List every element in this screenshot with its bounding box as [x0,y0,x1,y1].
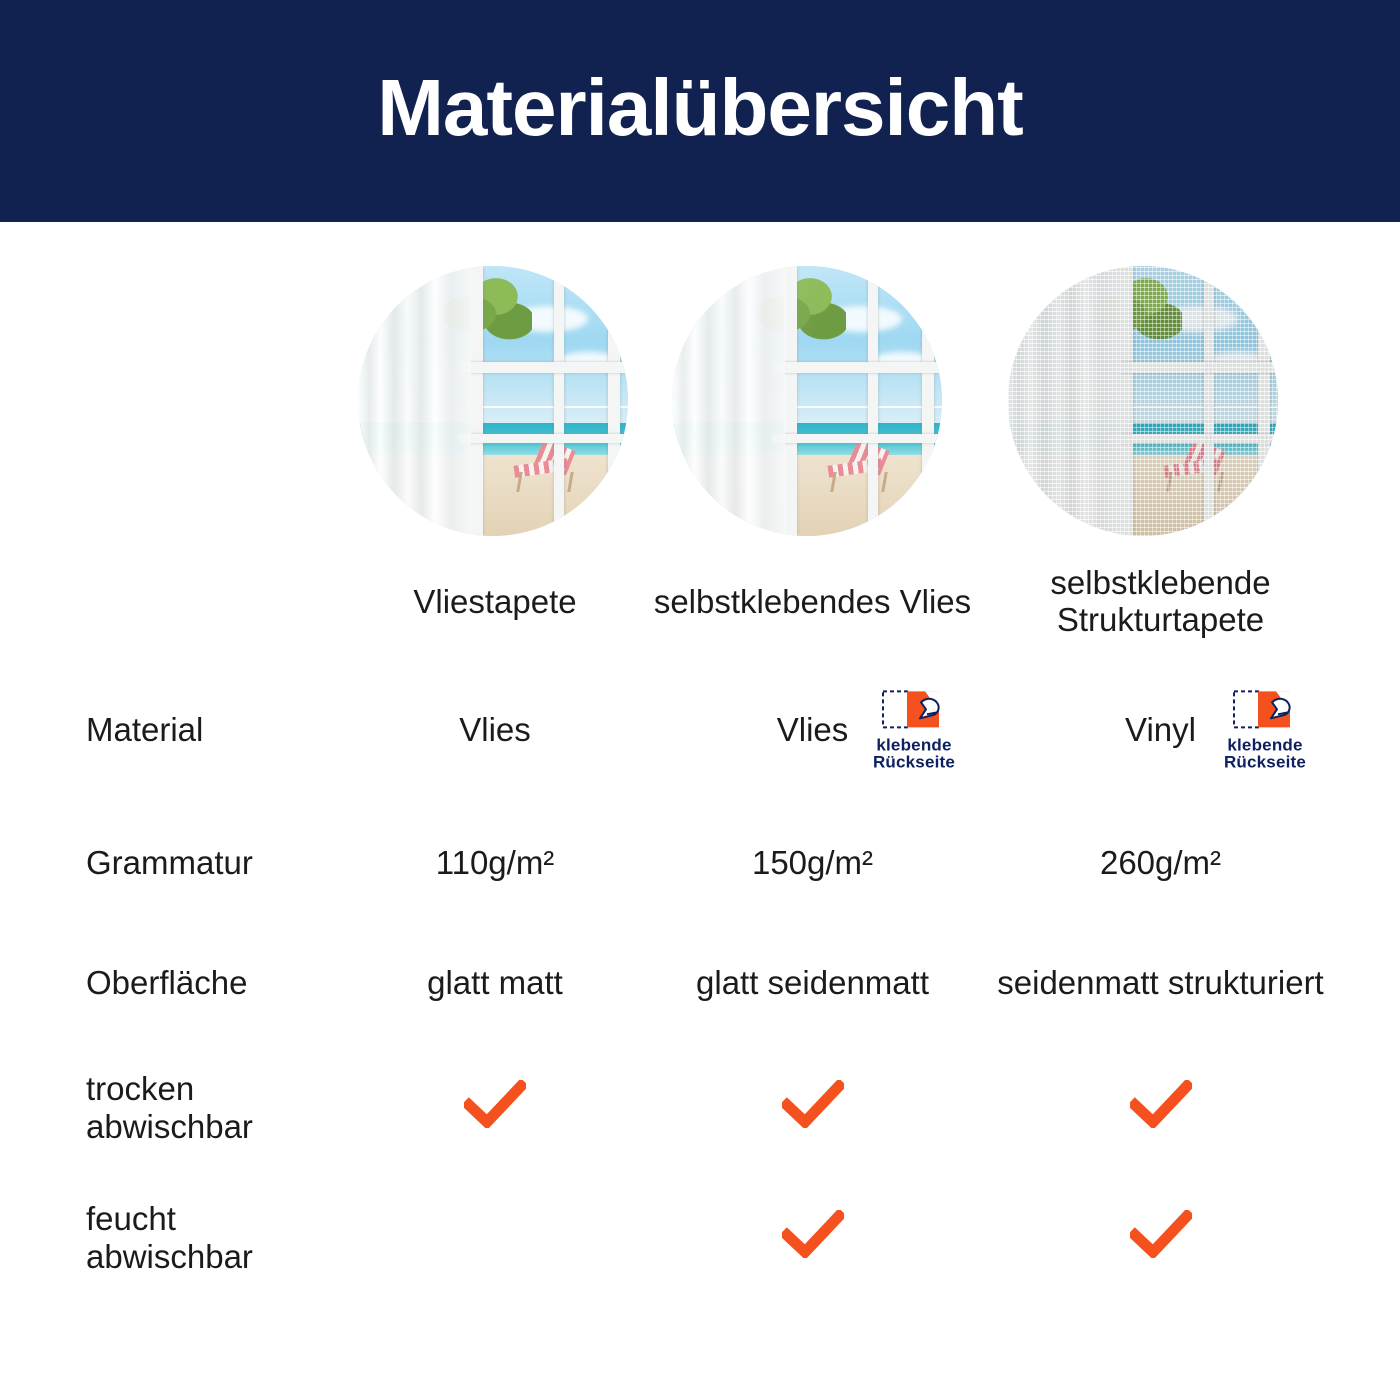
thumbnail-strukturtapete [1008,266,1278,536]
table-row-oberflaeche: Oberfläche glatt matt glatt seidenmatt s… [64,923,1336,1043]
cell-grammatur-strukturtapete: 260g/m² [985,803,1336,923]
cell-grammatur-vliestapete: 110g/m² [350,803,640,923]
row-label-oberflaeche: Oberfläche [64,923,350,1043]
row-label-trocken-abwischbar: trocken abwischbar [64,1043,350,1173]
column-header-strukturtapete: selbstklebende Strukturtapete [985,548,1336,656]
header-empty-cell [64,548,350,656]
badge-line-1: klebende [1203,736,1327,754]
row-label-grammatur: Grammatur [64,803,350,923]
row-label-feucht-abwischbar: feucht abwischbar [64,1173,350,1303]
cell-oberflaeche-strukturtapete: seidenmatt strukturiert [985,923,1336,1043]
badge-line-2: Rückseite [1203,754,1327,772]
cell-value: Vinyl [1125,711,1196,748]
adhesive-backing-badge: klebende Rückseite [1203,688,1327,771]
check-icon [1130,1210,1192,1258]
check-icon [464,1080,526,1128]
adhesive-backing-icon [881,688,947,734]
cell-oberflaeche-selbstklebendes-vlies: glatt seidenmatt [640,923,985,1043]
check-icon [782,1080,844,1128]
table-row-grammatur: Grammatur 110g/m² 150g/m² 260g/m² [64,803,1336,923]
material-comparison-table: Vliestapete selbstklebendes Vlies selbst… [64,548,1336,1303]
table-header-row: Vliestapete selbstklebendes Vlies selbst… [64,548,1336,656]
table-row-feucht-abwischbar: feucht abwischbar [64,1173,1336,1303]
cell-material-strukturtapete: Vinyl klebende Rückseite [985,656,1336,803]
column-header-selbstklebendes-vlies: selbstklebendes Vlies [640,548,985,656]
cell-trocken-strukturtapete [985,1043,1336,1173]
cell-value: Vlies [777,711,849,748]
badge-line-1: klebende [852,736,976,754]
cell-trocken-selbstklebendes-vlies [640,1043,985,1173]
cell-feucht-selbstklebendes-vlies [640,1173,985,1303]
thumbnail-selbstklebendes-vlies [672,266,942,536]
cell-material-selbstklebendes-vlies: Vlies klebende Rückseite [640,656,985,803]
badge-line-2: Rückseite [852,754,976,772]
cell-trocken-vliestapete [350,1043,640,1173]
beach-scene [1008,266,1278,536]
cell-material-vliestapete: Vlies [350,656,640,803]
cell-feucht-strukturtapete [985,1173,1336,1303]
check-icon [782,1210,844,1258]
material-overview-page: Materialübersicht [0,0,1400,1400]
material-sample-thumbnails [0,262,1400,542]
cell-feucht-vliestapete [350,1173,640,1303]
cell-oberflaeche-vliestapete: glatt matt [350,923,640,1043]
beach-scene [672,266,942,536]
beach-scene [358,266,628,536]
table-row-material: Material Vlies Vlies [64,656,1336,803]
column-header-vliestapete: Vliestapete [350,548,640,656]
thumbnail-vliestapete [358,266,628,536]
cell-grammatur-selbstklebendes-vlies: 150g/m² [640,803,985,923]
curtain [358,266,471,536]
row-label-material: Material [64,656,350,803]
adhesive-backing-badge: klebende Rückseite [852,688,976,771]
adhesive-backing-icon [1232,688,1298,734]
curtain [1008,266,1121,536]
table-row-trocken-abwischbar: trocken abwischbar [64,1043,1336,1173]
page-header: Materialübersicht [0,0,1400,222]
curtain [672,266,785,536]
check-icon [1130,1080,1192,1128]
page-title: Materialübersicht [377,68,1022,148]
